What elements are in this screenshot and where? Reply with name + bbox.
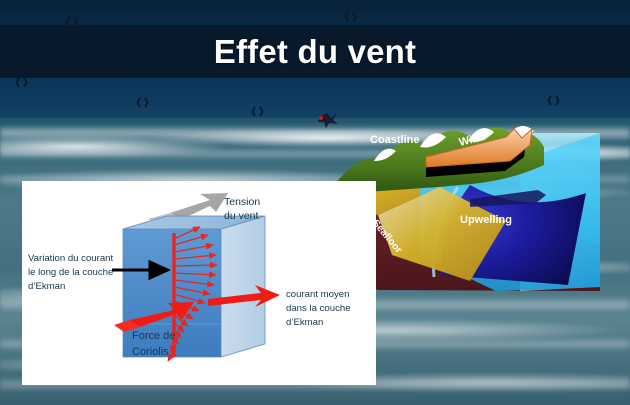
slide-canvas: ❰❱ ❰❱ ❰❱ ❰❱ ❰❱ ❰❱ Effet du vent bbox=[0, 0, 630, 405]
label-mean-current-line1: courant moyen bbox=[286, 289, 349, 300]
label-coriolis-line1: Force de bbox=[132, 330, 175, 342]
bird-icon: ❰❱ bbox=[14, 78, 29, 87]
label-coastline: Coastline bbox=[370, 134, 420, 146]
ekman-spiral-panel: Tension du vent Variation du courant le … bbox=[22, 181, 376, 385]
bird-marker-icon bbox=[319, 116, 323, 120]
bird-icon bbox=[318, 113, 338, 128]
bird-icon: ❰❱ bbox=[250, 107, 265, 116]
label-current-variation-line1: Variation du courant bbox=[28, 253, 113, 264]
slide-title-bar: Effet du vent bbox=[0, 25, 630, 78]
label-mean-current-line3: d’Ekman bbox=[286, 317, 323, 328]
label-wind-stress-line1: Tension bbox=[224, 196, 260, 208]
label-upwelling: Upwelling bbox=[460, 214, 512, 226]
page-title: Effet du vent bbox=[214, 33, 416, 71]
label-mean-current-line2: dans la couche bbox=[286, 303, 351, 314]
bird-icon: ❰❱ bbox=[135, 98, 150, 107]
label-current-variation-line2: le long de la couche bbox=[28, 267, 113, 278]
label-current-variation-line3: d’Ekman bbox=[28, 281, 65, 292]
bird-icon: ❰❱ bbox=[343, 12, 358, 21]
label-coriolis-line2: Coriolis bbox=[132, 346, 169, 358]
label-wind-stress-line2: du vent bbox=[224, 210, 259, 222]
